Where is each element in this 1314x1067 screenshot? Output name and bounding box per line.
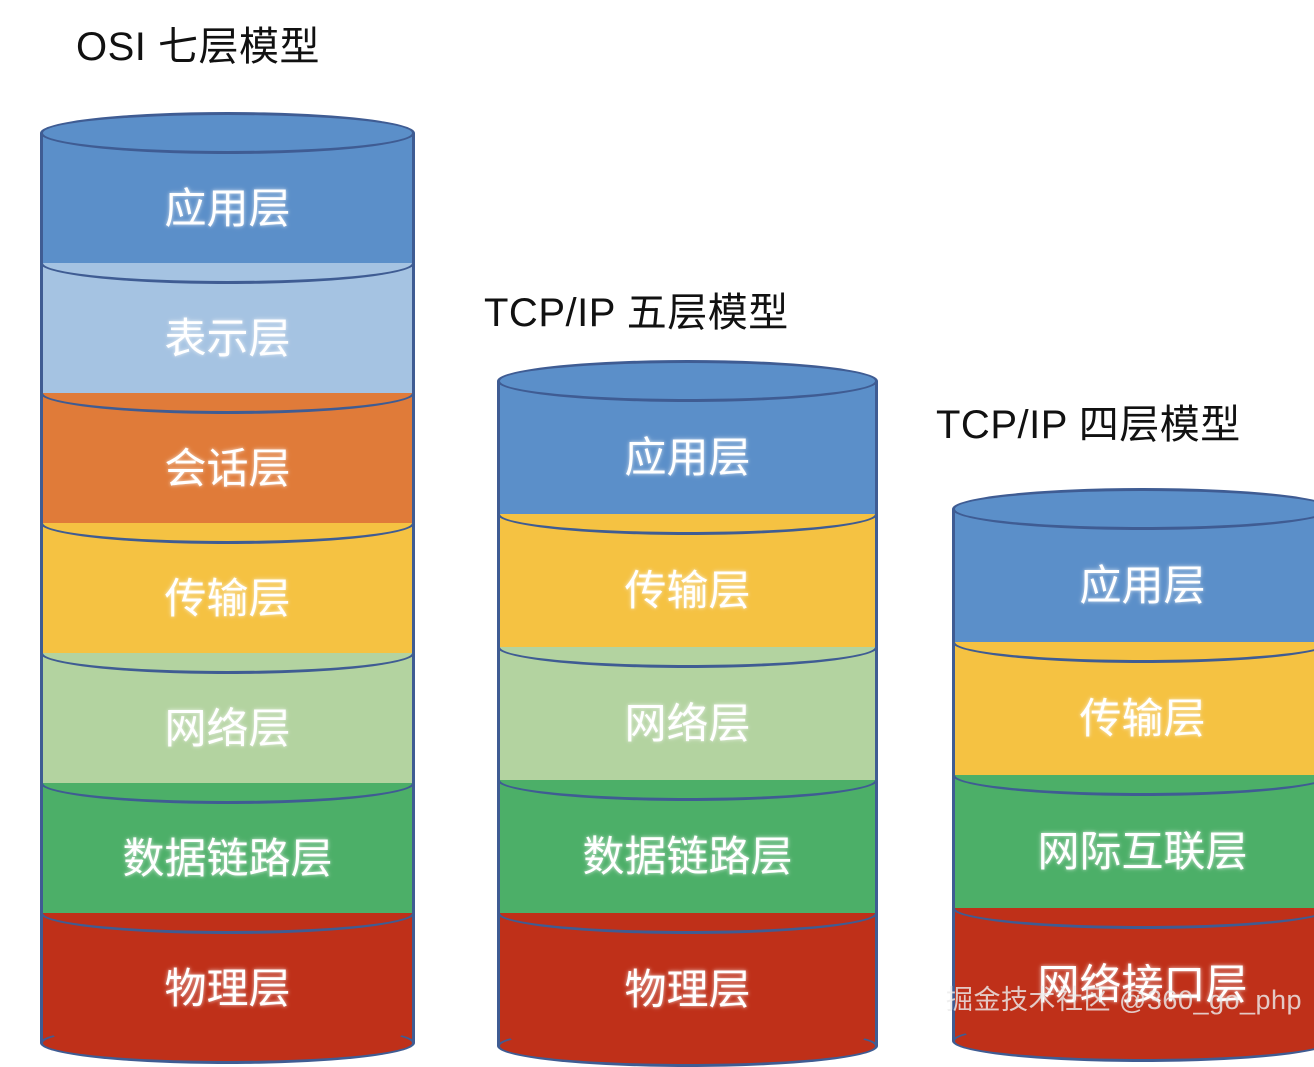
stack-tcpip5: 应用层传输层网络层数据链路层物理层 (497, 360, 878, 1067)
stack-title-tcpip5: TCP/IP 五层模型 (484, 280, 789, 338)
stack-osi: 应用层表示层会话层传输层网络层数据链路层物理层 (40, 112, 415, 1064)
layer-top-cap (952, 488, 1314, 530)
watermark: 掘金技术社区 @360_go_php (946, 978, 1302, 1017)
stack-tcpip4: 应用层传输层网际互联层网络接口层 (952, 488, 1314, 1062)
layer-bottom-cap (497, 1025, 878, 1067)
layer-top-cap (497, 360, 878, 402)
layer-bottom-cap (40, 1022, 415, 1064)
layer-tcpip4-application[interactable]: 应用层 (952, 488, 1314, 663)
layer-tcpip5-application[interactable]: 应用层 (497, 360, 878, 535)
layer-bottom-cap (952, 1020, 1314, 1062)
stack-title-tcpip4: TCP/IP 四层模型 (936, 392, 1241, 450)
layer-osi-application[interactable]: 应用层 (40, 112, 415, 284)
stack-title-osi: OSI 七层模型 (76, 14, 320, 72)
layer-top-cap (40, 112, 415, 154)
diagram-canvas: OSI 七层模型应用层表示层会话层传输层网络层数据链路层物理层TCP/IP 五层… (0, 0, 1314, 1036)
